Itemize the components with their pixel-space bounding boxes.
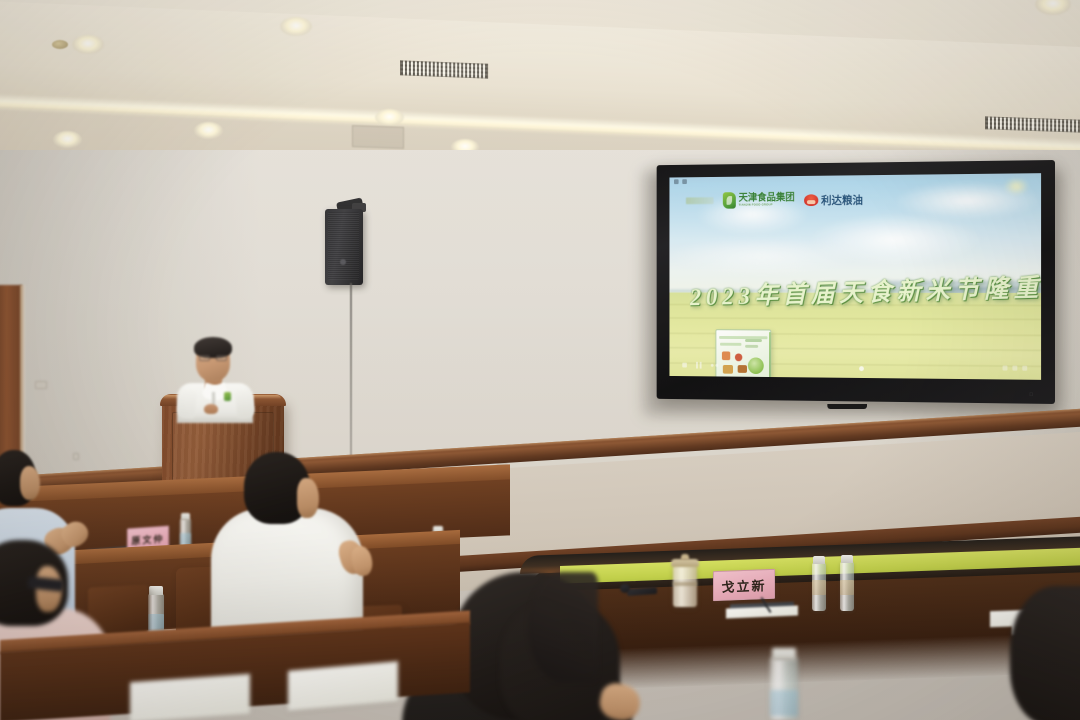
bottle-cap: [813, 556, 825, 564]
lida-grain-oil-logo: 利达粮油: [804, 191, 863, 207]
player-right-controls[interactable]: [1003, 365, 1028, 370]
display-bezel: 天津食品集团 TIANJIN FOOD GROUP 利达粮油 2023年首届天食…: [657, 160, 1055, 404]
downlight-glow: [72, 35, 104, 54]
bottle-label: [840, 580, 854, 595]
tea-cup-band: [673, 582, 697, 586]
speaker-cable: [350, 283, 352, 483]
attendee-face: [20, 466, 40, 500]
bottle-label: [770, 690, 798, 716]
player-icon: [674, 179, 679, 184]
stop-icon[interactable]: [682, 362, 687, 367]
downlight-glow: [280, 17, 312, 36]
glasses-icon: [199, 355, 227, 362]
progress-knob[interactable]: [859, 366, 864, 371]
conference-room-scene: 天津食品集团 TIANJIN FOOD GROUP 利达粮油 2023年首届天食…: [0, 0, 1080, 720]
next-icon[interactable]: [711, 363, 718, 366]
tea-cup: [673, 565, 697, 607]
slide-logo-row: 天津食品集团 TIANJIN FOOD GROUP 利达粮油: [686, 191, 863, 209]
bottle-label: [812, 580, 826, 595]
microphone-head[interactable]: [620, 584, 630, 593]
package-side-panel: [769, 331, 771, 380]
fullscreen-icon[interactable]: [1022, 365, 1027, 370]
paper-document: [130, 674, 250, 720]
presenter-arm-left: [177, 389, 198, 419]
attendee-face: [297, 478, 319, 518]
bottle-cap: [772, 648, 796, 660]
pause-icon[interactable]: [696, 361, 702, 368]
downlight-glow: [194, 122, 223, 139]
volume-icon[interactable]: [1003, 365, 1008, 370]
player-titlebar-icons: [674, 179, 687, 184]
presentation-slide: 天津食品集团 TIANJIN FOOD GROUP 利达粮油 2023年首届天食…: [669, 173, 1041, 380]
bottle-cap: [181, 513, 190, 520]
display-mount-foot: [827, 404, 867, 409]
display-brand-logo: □: [1030, 392, 1033, 398]
settings-icon[interactable]: [1012, 365, 1017, 370]
speaker-driver-icon: [340, 259, 346, 265]
speaker-grille: [328, 212, 359, 280]
attendee-head: [528, 572, 598, 682]
presenter-hand: [204, 404, 218, 414]
ceiling-access-panel: [352, 125, 404, 149]
leaf-logo-icon: [723, 192, 736, 209]
wall-outlet-icon: [35, 381, 47, 389]
cloud: [669, 236, 856, 275]
bottle-cap: [841, 555, 853, 563]
presenter-lapel-badge: [224, 392, 231, 401]
player-icon: [682, 179, 687, 184]
display-assembly[interactable]: 天津食品集团 TIANJIN FOOD GROUP 利达粮油 2023年首届天食…: [637, 160, 1057, 406]
nameplate-right-text: 戈立新: [721, 575, 766, 596]
downlight-glow: [53, 131, 82, 148]
tea-cup-knob: [681, 554, 689, 560]
downlight-glow: [375, 109, 404, 126]
display-screen[interactable]: 天津食品集团 TIANJIN FOOD GROUP 利达粮油 2023年首届天食…: [669, 173, 1041, 380]
smoke-detector-icon: [52, 40, 68, 49]
lida-grain-oil-name: 利达粮油: [821, 191, 863, 207]
tea-cup-lid: [671, 559, 699, 567]
wall-switch-icon[interactable]: [73, 453, 79, 460]
tianjin-food-group-subtext: TIANJIN FOOD GROUP: [739, 203, 795, 207]
sunrise-logo-icon: [804, 194, 818, 206]
presenter-arm-right: [235, 389, 256, 419]
bottle-cap: [149, 586, 163, 595]
paper-document: [288, 661, 398, 711]
product-package-image: [715, 329, 771, 380]
nameplate-right: 戈立新: [713, 569, 775, 601]
tianjin-food-group-logo: 天津食品集团 TIANJIN FOOD GROUP: [723, 192, 795, 209]
secondary-logo-icon: [686, 197, 714, 204]
